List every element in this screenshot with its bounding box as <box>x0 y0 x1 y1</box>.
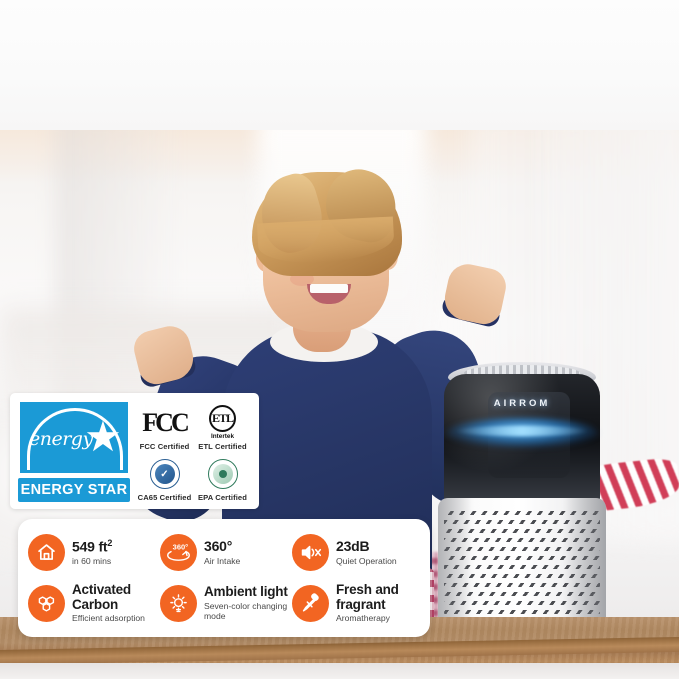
feature-title: 360° <box>204 539 240 554</box>
cert-caption: CA65 Certified <box>138 493 192 502</box>
energy-star-graphic: energy ★ <box>18 400 130 475</box>
molecule-icon <box>28 585 65 622</box>
feature-title: 549 ft <box>72 538 107 554</box>
energy-star-label: ENERGY STAR <box>18 478 130 502</box>
feature-title: Ambient light <box>204 585 288 599</box>
cert-mark-ca65: ✓ CA65 Certified <box>136 452 193 503</box>
feature-air-intake: 360° 360° Air Intake <box>160 527 288 578</box>
feature-ambient-light: Ambient light Seven-color changing mode <box>160 578 288 629</box>
mute-icon <box>292 534 329 571</box>
feature-title: 23dB <box>336 539 397 554</box>
feature-highlights-panel: 549 ft2 in 60 mins 360° 360° Air Intake <box>18 519 430 637</box>
certification-marks-grid: FCC FCC Certified ETL Intertek ETL Certi… <box>130 400 251 502</box>
svg-text:360°: 360° <box>173 543 189 552</box>
epa-icon <box>208 457 238 491</box>
cert-caption: ETL Certified <box>198 442 246 451</box>
feature-subtitle: Air Intake <box>204 556 240 566</box>
product-banner: AIRROM A Healthy Day Starts with a Fresh… <box>0 0 679 679</box>
feature-superscript: 2 <box>107 538 112 548</box>
cert-mark-fcc: FCC FCC Certified <box>136 400 193 451</box>
etl-icon: ETL Intertek <box>209 406 236 440</box>
feature-title: Activated Carbon <box>72 583 156 611</box>
cert-caption: FCC Certified <box>140 442 190 451</box>
cert-mark-etl: ETL Intertek ETL Certified <box>194 400 251 451</box>
feature-subtitle: Aromatherapy <box>336 613 420 623</box>
house-icon <box>28 534 65 571</box>
dropper-icon <box>292 585 329 622</box>
feature-subtitle: Quiet Operation <box>336 556 397 566</box>
feature-subtitle: Efficient adsorption <box>72 613 156 623</box>
energy-star-badge: energy ★ ENERGY STAR <box>18 400 130 502</box>
feature-coverage-area: 549 ft2 in 60 mins <box>28 527 156 578</box>
certification-panel: energy ★ ENERGY STAR FCC FCC Certified E… <box>10 393 259 509</box>
feature-subtitle: in 60 mins <box>72 556 112 566</box>
floor-baseboard <box>0 663 679 679</box>
product-led-ring-core <box>456 426 588 436</box>
feature-noise-level: 23dB Quiet Operation <box>292 527 420 578</box>
feature-subtitle: Seven-color changing mode <box>204 601 288 622</box>
feature-aromatherapy: Fresh and fragrant Aromatherapy <box>292 578 420 629</box>
cert-mark-epa: EPA Certified <box>194 452 251 503</box>
cert-caption: EPA Certified <box>198 493 247 502</box>
feature-title: Fresh and fragrant <box>336 583 420 611</box>
bulb-icon <box>160 585 197 622</box>
rotate-icon: 360° <box>160 534 197 571</box>
star-icon: ★ <box>83 418 123 458</box>
feature-activated-carbon: Activated Carbon Efficient adsorption <box>28 578 156 629</box>
headline-band <box>0 0 679 130</box>
product-brand-logo: AIRROM <box>444 398 600 409</box>
ca65-icon: ✓ <box>150 457 180 491</box>
air-purifier-product: AIRROM <box>434 362 610 652</box>
fcc-icon: FCC <box>142 406 186 440</box>
